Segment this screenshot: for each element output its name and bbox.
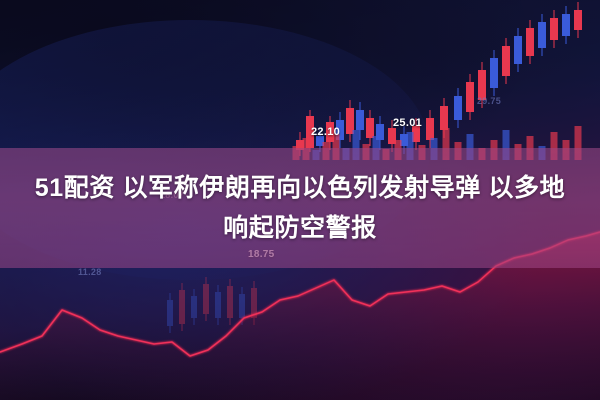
price-label: 29.75 bbox=[477, 96, 501, 106]
headline-line-2: 响起防空警报 bbox=[223, 209, 377, 247]
headline-line-1: 51配资 以军称伊朗再向以色列发射导弹 以多地 bbox=[35, 169, 566, 207]
page-title: 51配资 以军称伊朗再向以色列发射导弹 以多地 响起防空警报 bbox=[0, 150, 600, 266]
price-label: 25.01 bbox=[393, 117, 422, 129]
news-banner: 11.2818.0718.7522.1025.0129.75 51配资 以军称伊… bbox=[0, 0, 600, 400]
price-label: 22.10 bbox=[311, 126, 340, 138]
price-label: 11.28 bbox=[78, 267, 102, 277]
